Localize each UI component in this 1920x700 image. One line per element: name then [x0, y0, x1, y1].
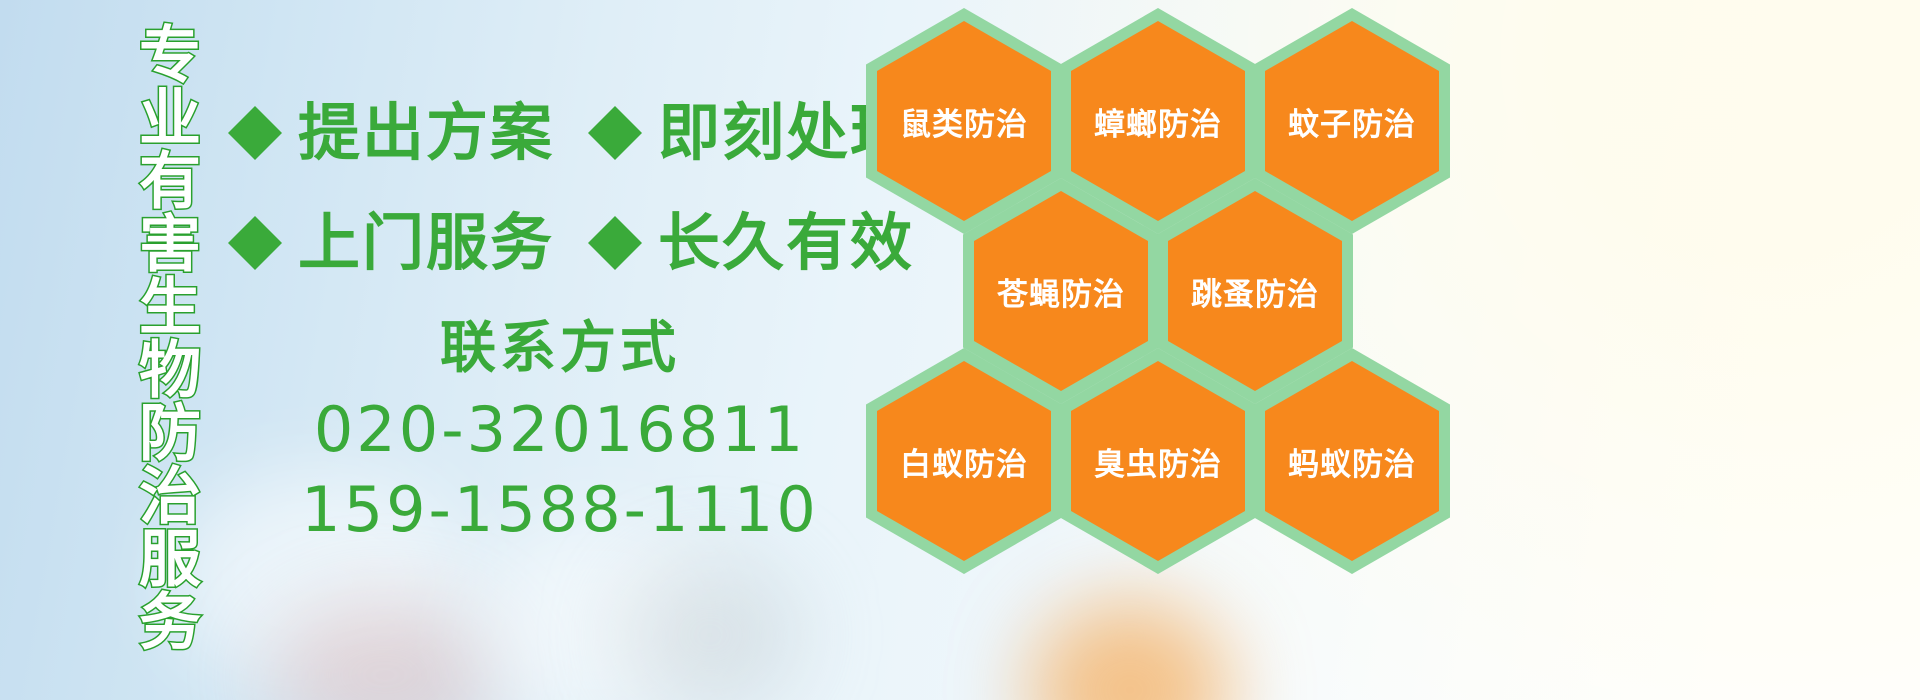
- contact-phone-landline[interactable]: 020-32016811: [300, 390, 820, 471]
- background-blur-blob: [620, 560, 800, 700]
- service-honeycomb: 鼠类防治 蟑螂防治 蚊子防治 苍蝇防治 跳蚤防治: [848, 0, 1468, 580]
- feature-row: 上门服务 长久有效: [228, 188, 868, 298]
- diamond-icon: [588, 79, 642, 133]
- service-label: 蚂蚁防治: [1288, 439, 1416, 484]
- feature-item-propose-plan: 提出方案: [228, 102, 554, 164]
- banner-stage: 专业有害生物防治服务 提出方案 即刻处理 上门服务 长久有效: [0, 0, 1920, 700]
- feature-label: 上门服务: [298, 212, 554, 274]
- background-blur-blob: [270, 600, 500, 700]
- feature-row: 提出方案 即刻处理: [228, 78, 868, 188]
- service-label: 跳蚤防治: [1191, 269, 1319, 314]
- contact-phone-mobile[interactable]: 159-1588-1110: [300, 470, 820, 551]
- service-label: 蚊子防治: [1288, 99, 1416, 144]
- diamond-icon: [588, 189, 642, 243]
- feature-label: 提出方案: [298, 102, 554, 164]
- background-blur-blob: [1030, 600, 1230, 700]
- service-label: 苍蝇防治: [997, 269, 1125, 314]
- feature-item-onsite-service: 上门服务: [228, 212, 554, 274]
- contact-block: 联系方式 020-32016811 159-1588-1110: [300, 318, 820, 551]
- service-hex-bedbug[interactable]: 臭虫防治: [1060, 348, 1256, 574]
- service-label: 臭虫防治: [1094, 439, 1222, 484]
- vertical-slogan: 专业有害生物防治服务: [110, 22, 196, 652]
- diamond-icon: [228, 79, 282, 133]
- service-label: 蟑螂防治: [1094, 99, 1222, 144]
- diamond-icon: [228, 189, 282, 243]
- service-hex-ant[interactable]: 蚂蚁防治: [1254, 348, 1450, 574]
- feature-list: 提出方案 即刻处理 上门服务 长久有效: [228, 78, 868, 298]
- service-label: 鼠类防治: [900, 99, 1028, 144]
- service-hex-termite[interactable]: 白蚁防治: [866, 348, 1062, 574]
- contact-title: 联系方式: [300, 318, 820, 380]
- service-label: 白蚁防治: [900, 439, 1028, 484]
